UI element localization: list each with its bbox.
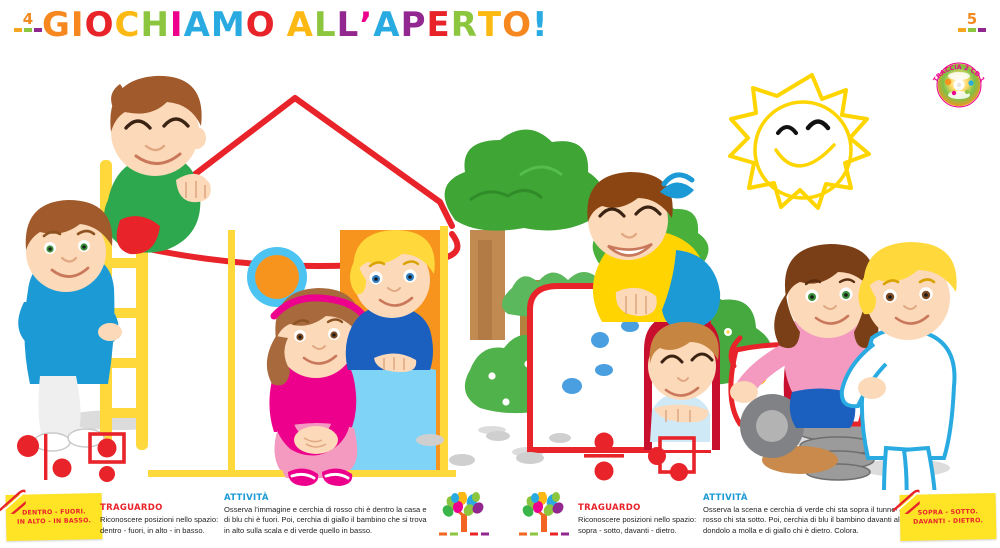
title-letter-17: R — [451, 6, 478, 44]
attivita-block-2: ATTIVITÀ Osserva la scena e cerchia di v… — [703, 493, 918, 537]
title-letter-1: I — [71, 6, 85, 44]
title-letter-20: ! — [532, 6, 549, 44]
sticky-note-right-text: SOPRA - SOTTO. DAVANTI - DIETRO. — [913, 507, 983, 526]
title-letter-10: A — [287, 6, 314, 44]
smiling-sun — [730, 75, 869, 208]
title-letter-14: A — [373, 6, 400, 44]
scene-svg — [0, 40, 1000, 490]
bottom-instruction-strip: DENTRO - FUORI. IN ALTO - IN BASSO. TRAG… — [0, 486, 1000, 548]
attivita-heading-2: ATTIVITÀ — [703, 493, 918, 504]
above-below-symbol — [584, 433, 624, 481]
paperclip-icon — [0, 488, 26, 515]
title-letter-9 — [276, 6, 287, 44]
title-letter-5: I — [170, 6, 184, 44]
traguardo-heading-2: TRAGUARDO — [578, 503, 698, 514]
front-behind-symbol — [648, 438, 694, 481]
title-letter-7: M — [211, 6, 246, 44]
attivita-body-2: Osserva la scena e cerchia di verde chi … — [703, 505, 918, 537]
page-number-right-bars — [952, 28, 992, 32]
sticky-note-left: DENTRO - FUORI. IN ALTO - IN BASSO. — [6, 493, 103, 541]
traguardo-block-1: TRAGUARDO Riconoscere posizioni nello sp… — [100, 503, 220, 536]
tree-logo-left — [438, 492, 490, 540]
sticky-note-left-text: DENTRO - FUORI. IN ALTO - IN BASSO. — [17, 507, 91, 527]
title-letter-19: O — [502, 6, 532, 44]
child-boy-in-tunnel — [648, 322, 719, 442]
page-number-right-value: 5 — [952, 12, 992, 26]
title-letter-18: T — [478, 6, 502, 44]
title-letter-6: A — [184, 6, 211, 44]
tree-logo-right — [518, 492, 570, 540]
paperclip-icon — [889, 488, 920, 515]
up-down-symbol — [90, 434, 124, 482]
workbook-page: 4 5 GIOCHIAMO ALL’APERTO! — [0, 0, 1000, 548]
title-letter-12: L — [337, 6, 360, 44]
traguardo-body-1: Riconoscere posizioni nello spazio: dent… — [100, 515, 220, 536]
title-letter-8: O — [246, 6, 276, 44]
page-number-right: 5 — [952, 12, 992, 32]
title-letter-3: C — [114, 6, 140, 44]
inside-outside-symbol — [17, 434, 72, 480]
page-title: GIOCHIAMO ALL’APERTO! — [42, 6, 549, 44]
traguardo-block-2: TRAGUARDO Riconoscere posizioni nello sp… — [578, 503, 698, 536]
illustration-scene — [0, 40, 1000, 490]
title-letter-11: L — [314, 6, 337, 44]
attivita-body-1: Osserva l’immagine e cerchia di rosso ch… — [224, 505, 429, 537]
title-letter-0: G — [42, 6, 71, 44]
title-letter-13: ’ — [359, 6, 373, 44]
child-girl-sitting — [267, 288, 362, 486]
sticky-note-right: SOPRA - SOTTO. DAVANTI - DIETRO. — [900, 493, 997, 541]
title-letter-2: O — [85, 6, 115, 44]
traguardo-heading-1: TRAGUARDO — [100, 503, 220, 514]
sticky-right-line2: DAVANTI - DIETRO. — [913, 516, 983, 526]
attivita-block-1: ATTIVITÀ Osserva l’immagine e cerchia di… — [224, 493, 429, 537]
symbol-key-left — [14, 432, 138, 482]
title-letter-4: H — [140, 6, 169, 44]
title-letter-16: E — [426, 6, 450, 44]
title-letter-15: P — [401, 6, 427, 44]
attivita-heading-1: ATTIVITÀ — [224, 493, 429, 504]
traguardo-body-2: Riconoscere posizioni nello spazio: sopr… — [578, 515, 698, 536]
sticky-left-line2: IN ALTO - IN BASSO. — [17, 516, 91, 527]
symbol-key-middle — [578, 432, 702, 482]
